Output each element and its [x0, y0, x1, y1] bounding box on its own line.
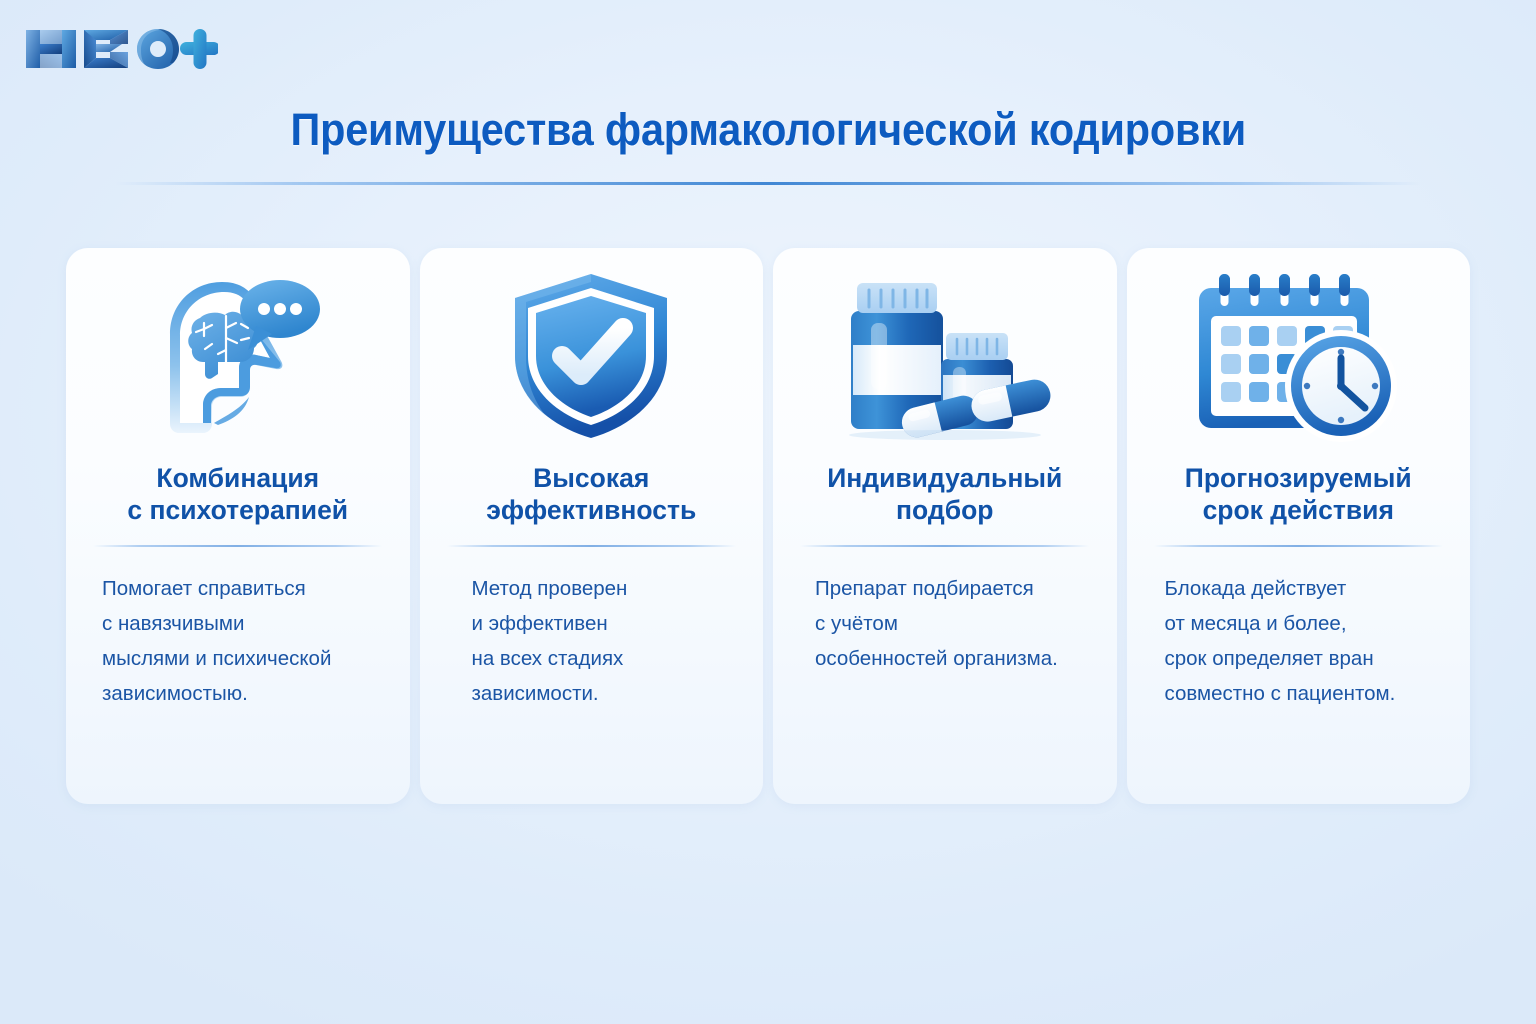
- page-title-wrap: Преимущества фармакологической кодировки: [0, 104, 1536, 156]
- card-heading-line-1: Комбинация: [156, 463, 319, 493]
- card-body: Препарат подбирается с учётом особенност…: [773, 571, 1117, 677]
- card-heading-line-2: подбор: [896, 495, 993, 525]
- card-body-line: с учётом: [815, 606, 1091, 641]
- benefits-card-list: Комбинация с психотерапией Помогает спра…: [66, 248, 1470, 804]
- card-heading-line-2: с психотерапией: [127, 495, 348, 525]
- card-heading: Комбинация с психотерапией: [111, 463, 364, 527]
- logo-letter-e: [84, 30, 128, 68]
- title-underline-rule: [115, 182, 1421, 185]
- card-body: Помогает справиться с навязчивыми мыслям…: [66, 571, 410, 712]
- logo-letter-n: [26, 30, 76, 68]
- head-brain-speech-bubble-icon: [66, 248, 410, 463]
- card-body-line: зависимости.: [472, 676, 738, 711]
- card-body-line: и эффективен: [472, 606, 738, 641]
- card-body-line: Блокада действует: [1165, 571, 1445, 606]
- card-body-line: особенностей организма.: [815, 641, 1091, 676]
- card-heading-line-1: Высокая: [533, 463, 649, 493]
- card-body-line: мыслями и психической: [102, 641, 384, 676]
- card-heading-line-2: срок действия: [1203, 495, 1394, 525]
- logo-letter-o: [137, 29, 179, 69]
- pill-bottles-capsules-icon: [773, 248, 1117, 463]
- card-body: Блокада действует от месяца и более, сро…: [1127, 571, 1471, 712]
- card-divider: [93, 545, 382, 547]
- card-body-line: Препарат подбирается: [815, 571, 1091, 606]
- card-divider: [447, 545, 736, 547]
- calendar-clock-icon: [1127, 248, 1471, 463]
- infographic-page: Преимущества фармакологической кодировки: [0, 0, 1536, 1024]
- card-body: Метод проверен и эффективен на всех стад…: [420, 571, 764, 712]
- card-body-line: Помогает справиться: [102, 571, 384, 606]
- benefit-card-individual-selection[interactable]: Индивидуальный подбор Препарат подбирает…: [773, 248, 1117, 804]
- benefit-card-combination-psychotherapy[interactable]: Комбинация с психотерапией Помогает спра…: [66, 248, 410, 804]
- card-body-line: с навязчивыми: [102, 606, 384, 641]
- card-heading: Прогнозируемый срок действия: [1169, 463, 1428, 527]
- card-heading-line-1: Индивидуальный: [827, 463, 1062, 493]
- card-divider: [800, 545, 1089, 547]
- card-heading: Высокая эффективность: [470, 463, 712, 527]
- card-heading-line-1: Прогнозируемый: [1185, 463, 1412, 493]
- card-heading-line-2: эффективность: [486, 495, 696, 525]
- card-heading: Индивидуальный подбор: [811, 463, 1078, 527]
- card-body-line: от месяца и более,: [1165, 606, 1445, 641]
- card-body-line: на всех стадиях: [472, 641, 738, 676]
- benefit-card-predictable-duration[interactable]: Прогнозируемый срок действия Блокада дей…: [1127, 248, 1471, 804]
- benefit-card-high-effectiveness[interactable]: Высокая эффективность Метод проверен и э…: [420, 248, 764, 804]
- card-body-line: совместно с пациентом.: [1165, 676, 1445, 711]
- shield-check-icon: [420, 248, 764, 463]
- card-body-line: зависимостыю.: [102, 676, 384, 711]
- page-title: Преимущества фармакологической кодировки: [290, 104, 1245, 156]
- logo-plus-icon: [180, 29, 218, 69]
- card-body-line: срок определяет вран: [1165, 641, 1445, 676]
- card-divider: [1154, 545, 1443, 547]
- brand-logo: [18, 18, 218, 80]
- card-body-line: Метод проверен: [472, 571, 738, 606]
